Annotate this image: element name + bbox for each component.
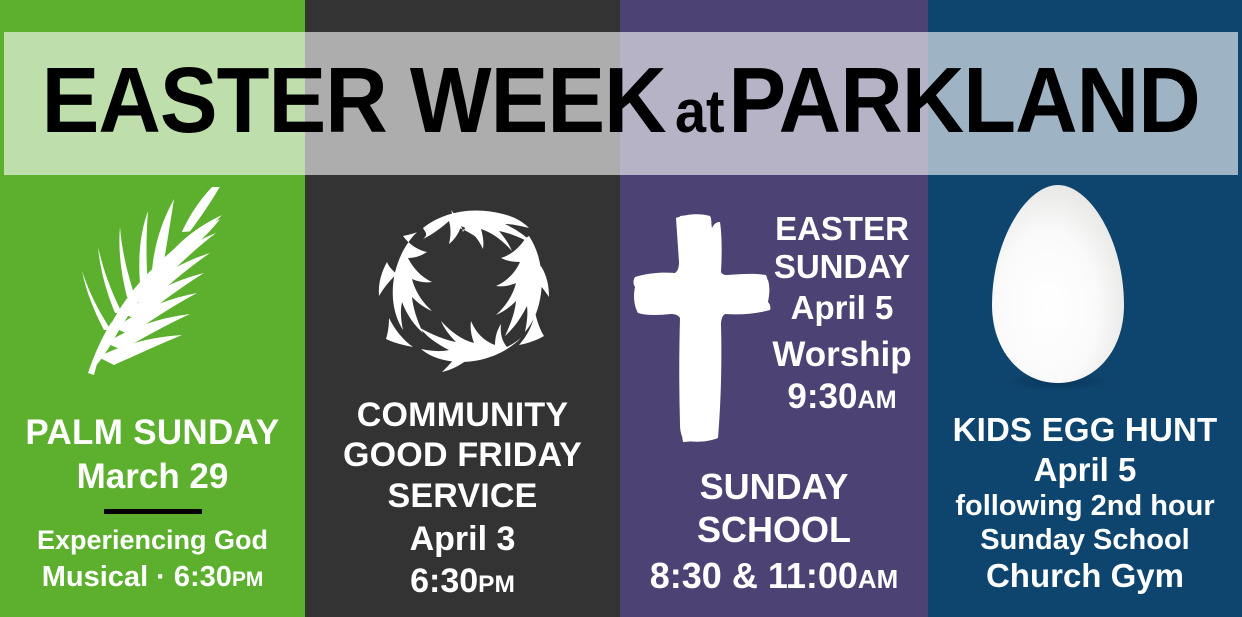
palm-sunday-text: PALM SUNDAY March 29 Experiencing God Mu… [0, 415, 305, 593]
good-friday-title-3: SERVICE [305, 479, 620, 514]
easter-egg-icon [928, 178, 1242, 398]
palm-sunday-title: PALM SUNDAY [0, 415, 305, 451]
sunday-school-title-2: SCHOOL [620, 512, 928, 549]
sunday-school-title-1: SUNDAY [620, 469, 928, 506]
palm-sunday-detail-1: Experiencing God [0, 527, 305, 555]
header-banner: EASTER WEEKatPARKLAND [4, 32, 1238, 175]
sunday-school-times-main: 8:30 & 11:00 [650, 555, 858, 596]
good-friday-title-1: COMMUNITY [305, 398, 620, 433]
kids-egg-hunt-detail-1: following 2nd hour [928, 492, 1242, 522]
good-friday-time-main: 6:30 [410, 562, 478, 600]
easter-sunday-worship-time: 9:30AM [760, 379, 924, 415]
kids-egg-hunt-detail-3: Church Gym [928, 559, 1242, 593]
easter-sunday-top-text: EASTER SUNDAY April 5 Worship 9:30AM [760, 212, 924, 414]
page-title: EASTER WEEKatPARKLAND [42, 54, 1200, 153]
page-title-at: at [666, 78, 729, 145]
kids-egg-hunt-date: April 5 [928, 453, 1242, 487]
sunday-school-times: 8:30 & 11:00AM [620, 558, 928, 595]
easter-week-poster: PALM SUNDAY March 29 Experiencing God Mu… [0, 0, 1242, 617]
sunday-school-times-meridiem: AM [858, 566, 898, 594]
kids-egg-hunt-detail-2: Sunday School [928, 526, 1242, 556]
easter-sunday-title-2: SUNDAY [760, 250, 924, 284]
palm-sunday-detail-2-main: Musical · 6:30 [42, 561, 232, 593]
good-friday-text: COMMUNITY GOOD FRIDAY SERVICE April 3 6:… [305, 398, 620, 599]
page-title-main: EASTER WEEK [42, 48, 666, 152]
kids-egg-hunt-title: KIDS EGG HUNT [928, 413, 1242, 447]
good-friday-time-meridiem: PM [478, 571, 515, 598]
good-friday-title-2: GOOD FRIDAY [305, 438, 620, 473]
easter-sunday-worship-time-main: 9:30 [787, 377, 857, 416]
easter-sunday-worship-time-meridiem: AM [857, 386, 896, 414]
easter-sunday-title-1: EASTER [760, 212, 924, 246]
palm-sunday-detail-2: Musical · 6:30PM [0, 563, 305, 593]
easter-sunday-date: April 5 [760, 291, 924, 325]
page-title-org: PARKLAND [729, 48, 1200, 152]
palm-sunday-detail-2-meridiem: PM [232, 568, 263, 591]
easter-sunday-school-text: SUNDAY SCHOOL 8:30 & 11:00AM [620, 469, 928, 595]
easter-sunday-worship-label: Worship [760, 337, 924, 373]
good-friday-time: 6:30PM [305, 564, 620, 599]
palm-sunday-divider [104, 509, 202, 514]
palm-sunday-date: March 29 [0, 459, 305, 495]
good-friday-date: April 3 [305, 522, 620, 557]
palm-frond-icon [0, 182, 305, 382]
crown-of-thorns-icon [305, 180, 620, 390]
kids-egg-hunt-text: KIDS EGG HUNT April 5 following 2nd hour… [928, 413, 1242, 593]
